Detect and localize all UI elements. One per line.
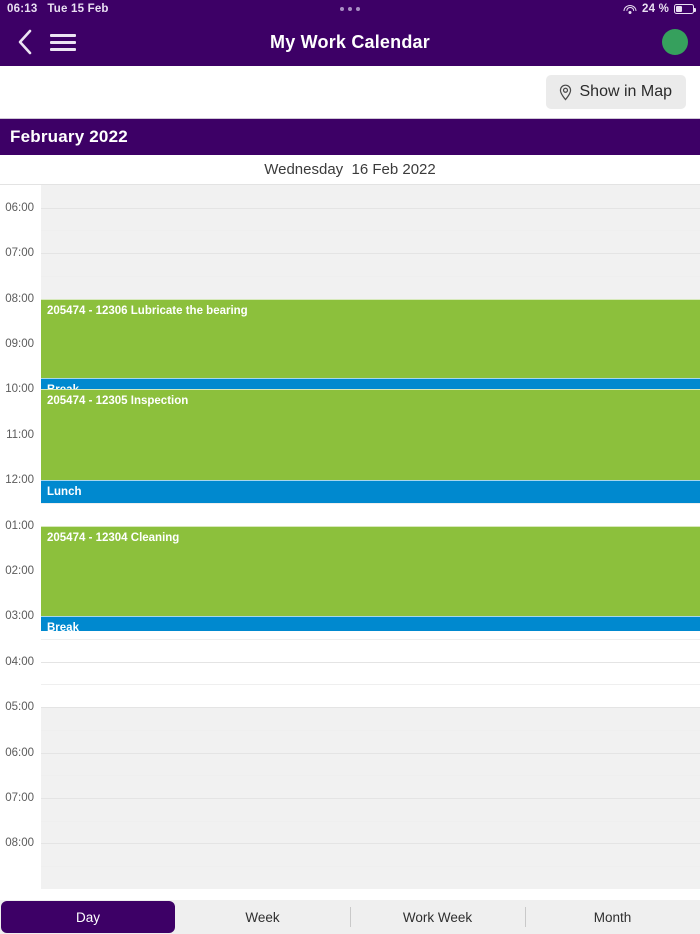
hour-label: 07:00 [5, 247, 34, 259]
calendar-event-title: Break [41, 379, 700, 389]
calendar-event-title: 205474 - 12304 Cleaning [41, 527, 700, 545]
calendar-event-task[interactable]: 205474 - 12306 Lubricate the bearing [41, 299, 700, 378]
more-dots-icon [340, 7, 360, 11]
day-header-label: Wednesday 16 Feb 2022 [264, 161, 436, 178]
status-time: 06:13 [7, 3, 37, 15]
map-pin-icon [558, 84, 573, 101]
view-mode-tabbar: DayWeekWork WeekMonth [0, 900, 700, 934]
tab-month[interactable]: Month [525, 900, 700, 934]
calendar-event-title: Lunch [41, 481, 700, 499]
page-title: My Work Calendar [0, 32, 700, 53]
hour-label: 12:00 [5, 474, 34, 486]
day-header: Wednesday 16 Feb 2022 [0, 155, 700, 185]
toolbar: Show in Map [0, 66, 700, 119]
events-layer: 205474 - 12306 Lubricate the bearingBrea… [41, 185, 700, 889]
hour-label: 03:00 [5, 610, 34, 622]
show-in-map-label: Show in Map [580, 83, 673, 101]
hour-label: 08:00 [5, 837, 34, 849]
calendar-event-task[interactable]: 205474 - 12305 Inspection [41, 389, 700, 480]
hour-label: 08:00 [5, 293, 34, 305]
month-band: February 2022 [0, 119, 700, 155]
battery-percent-label: 24 % [642, 3, 669, 15]
calendar-event-break[interactable]: Lunch [41, 480, 700, 503]
hour-label: 02:00 [5, 565, 34, 577]
tab-week[interactable]: Week [175, 900, 350, 934]
status-bar: 06:13 Tue 15 Feb 24 % [0, 0, 700, 18]
battery-icon [674, 4, 694, 14]
chevron-left-icon[interactable] [8, 25, 42, 59]
avatar[interactable] [662, 29, 688, 55]
hour-label: 04:00 [5, 656, 34, 668]
hour-label: 01:00 [5, 520, 34, 532]
calendar-event-break[interactable]: Break [41, 378, 700, 389]
hour-label: 11:00 [6, 429, 34, 441]
show-in-map-button[interactable]: Show in Map [546, 75, 687, 109]
app-root: 06:13 Tue 15 Feb 24 % My Work Calendar [0, 0, 700, 934]
status-bar-right: 24 % [624, 3, 694, 15]
hour-label: 07:00 [5, 792, 34, 804]
time-gutter: 06:0007:0008:0009:0010:0011:0012:0001:00… [0, 185, 41, 889]
month-label: February 2022 [10, 127, 128, 147]
calendar-event-task[interactable]: 205474 - 12304 Cleaning [41, 526, 700, 617]
calendar-event-title: 205474 - 12305 Inspection [41, 390, 700, 408]
navigation-bar: My Work Calendar [0, 18, 700, 66]
hour-label: 06:00 [5, 202, 34, 214]
hour-label: 05:00 [5, 701, 34, 713]
calendar-event-title: Break [41, 617, 700, 631]
tab-day[interactable]: Day [1, 901, 175, 933]
calendar-grid[interactable]: 06:0007:0008:0009:0010:0011:0012:0001:00… [0, 185, 700, 889]
hour-label: 06:00 [5, 747, 34, 759]
calendar-event-title: 205474 - 12306 Lubricate the bearing [41, 300, 700, 318]
tab-work-week[interactable]: Work Week [350, 900, 525, 934]
hour-label: 09:00 [5, 338, 34, 350]
status-date: Tue 15 Feb [47, 3, 108, 15]
hamburger-menu-icon[interactable] [46, 25, 80, 59]
status-bar-left: 06:13 Tue 15 Feb [0, 3, 109, 15]
calendar-event-break[interactable]: Break [41, 616, 700, 631]
wifi-icon [624, 4, 637, 15]
hour-label: 10:00 [5, 383, 34, 395]
